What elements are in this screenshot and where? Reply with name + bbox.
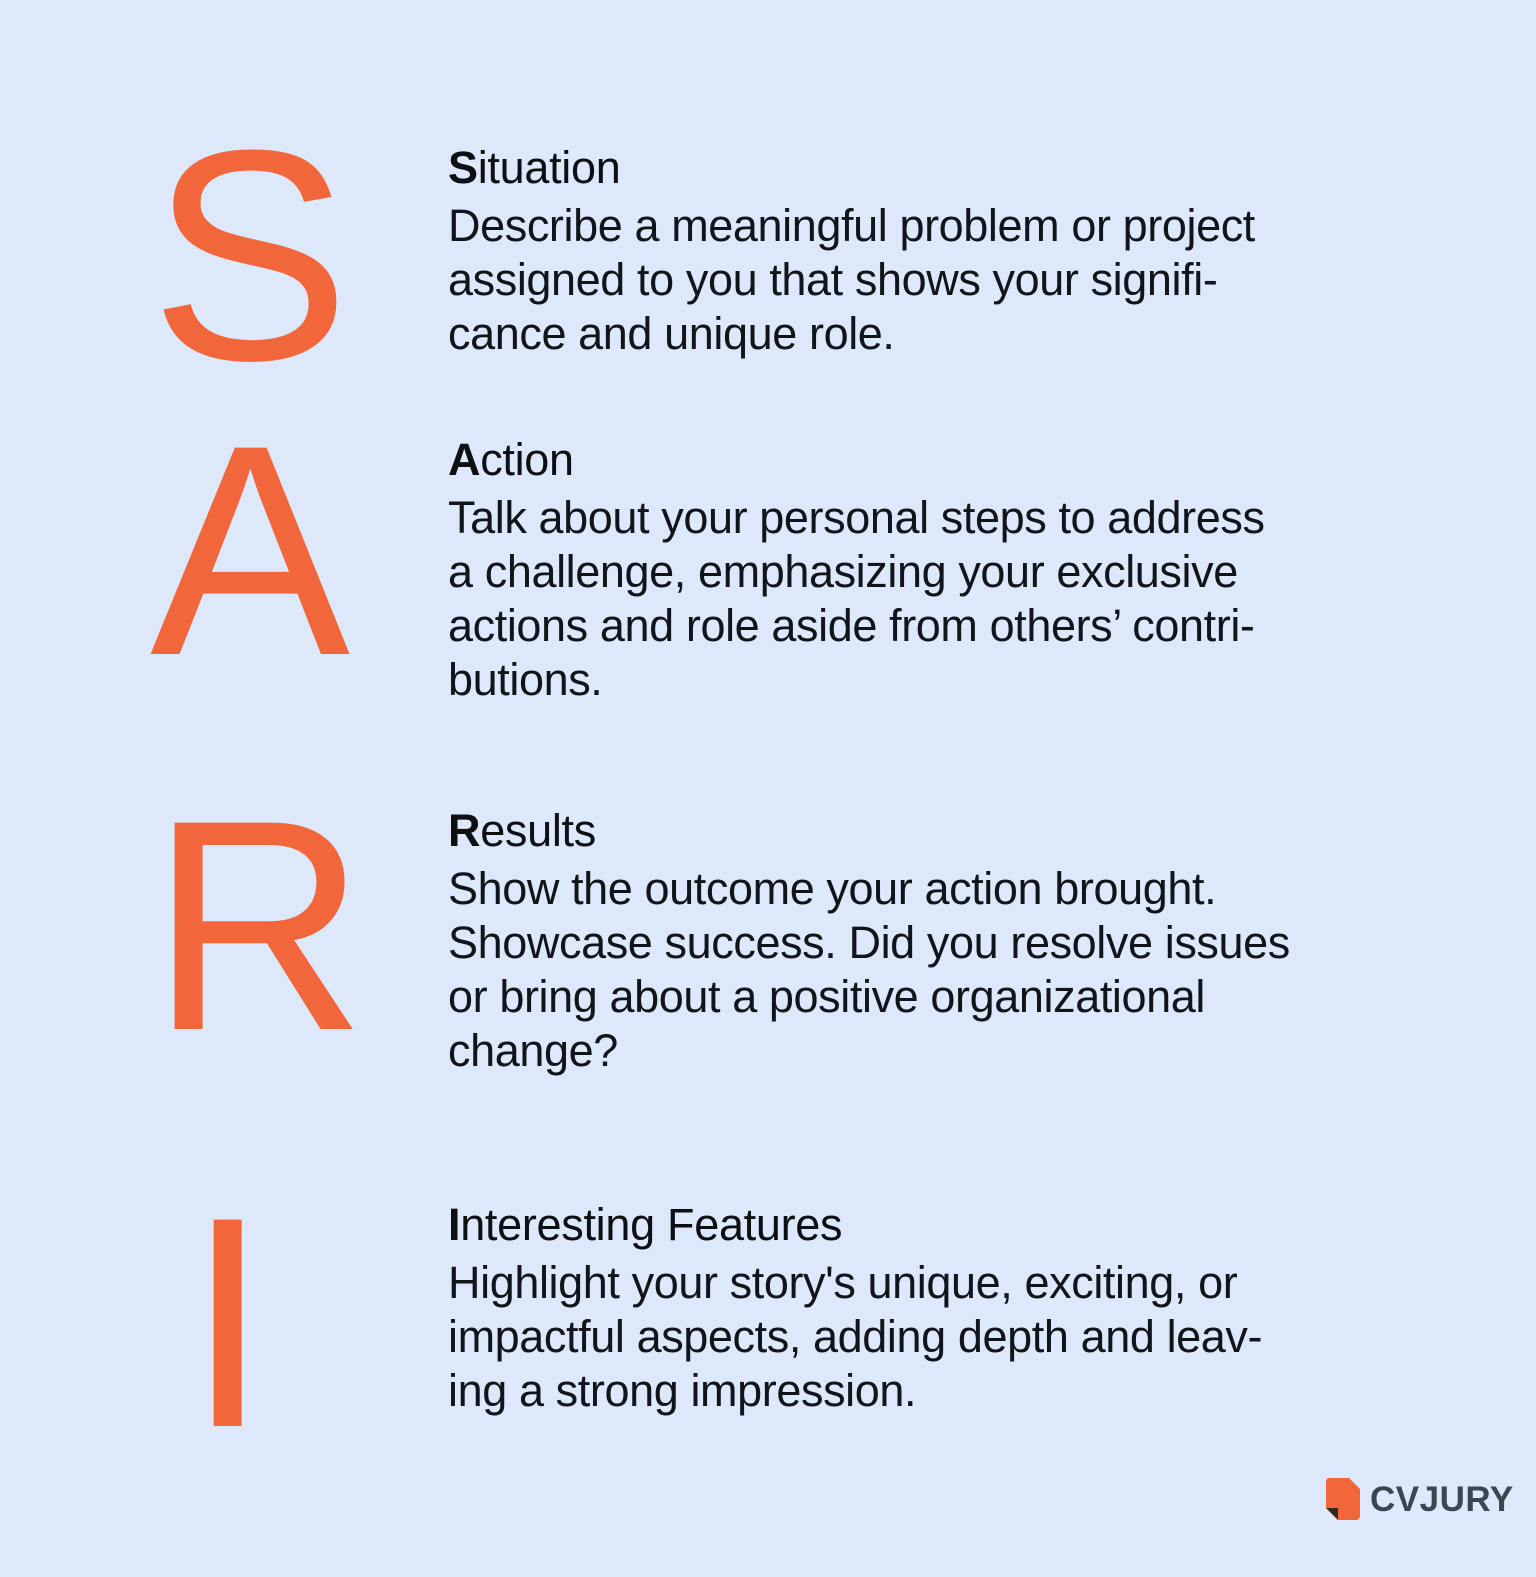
section-text-interesting-features: Interesting Features Highlight your stor… [448, 1197, 1368, 1418]
section-heading-situation: Situation [448, 140, 1368, 196]
section-heading-results: Results [448, 803, 1368, 859]
section-heading-rest-a: ction [480, 434, 574, 485]
body-line: Show the outcome your action brought. [448, 862, 1368, 916]
section-heading-cap-i: I [448, 1199, 460, 1250]
body-line: impactful aspects, adding depth and leav… [448, 1310, 1368, 1364]
body-line: a challenge, emphasizing your exclusive [448, 545, 1368, 599]
body-line: Describe a meaningful problem or project [448, 199, 1368, 253]
section-heading-cap-r: R [448, 805, 480, 856]
body-line: ing a strong impression. [448, 1364, 1368, 1418]
cvjury-logo[interactable]: CVJURY [1326, 1478, 1514, 1520]
body-line: change? [448, 1024, 1368, 1078]
body-line: Showcase success. Did you resolve issues [448, 916, 1368, 970]
section-letter-r: R [150, 775, 430, 1075]
section-letter-s: S [150, 105, 430, 405]
section-heading-rest-s: ituation [478, 142, 621, 193]
cvjury-wordmark: CVJURY [1370, 1482, 1514, 1517]
body-line: assigned to you that shows your signifi- [448, 253, 1368, 307]
section-text-results: Results Show the outcome your action bro… [448, 803, 1368, 1078]
body-line: or bring about a positive organizational [448, 970, 1368, 1024]
body-line: cance and unique role. [448, 307, 1368, 361]
body-line: Highlight your story's unique, exciting,… [448, 1256, 1368, 1310]
section-body-action: Talk about your personal steps to addres… [448, 491, 1368, 707]
body-line: Talk about your personal steps to addres… [448, 491, 1368, 545]
sari-infographic: S Situation Describe a meaningful proble… [0, 0, 1536, 1577]
section-body-situation: Describe a meaningful problem or project… [448, 199, 1368, 361]
section-letter-a: A [150, 400, 430, 700]
body-line: butions. [448, 653, 1368, 707]
section-heading-rest-r: esults [480, 805, 596, 856]
document-icon [1326, 1478, 1360, 1520]
section-heading-action: Action [448, 432, 1368, 488]
section-body-interesting-features: Highlight your story's unique, exciting,… [448, 1256, 1368, 1418]
section-text-action: Action Talk about your personal steps to… [448, 432, 1368, 707]
section-heading-rest-i: nteresting Features [460, 1199, 842, 1250]
section-heading-interesting-features: Interesting Features [448, 1197, 1368, 1253]
section-heading-cap-s: S [448, 142, 478, 193]
section-text-situation: Situation Describe a meaningful problem … [448, 140, 1368, 361]
section-heading-cap-a: A [448, 434, 480, 485]
section-body-results: Show the outcome your action brought. Sh… [448, 862, 1368, 1078]
body-line: actions and role aside from others’ cont… [448, 599, 1368, 653]
section-letter-i: I [186, 1172, 466, 1472]
sections-list: S Situation Describe a meaningful proble… [0, 0, 1536, 1440]
